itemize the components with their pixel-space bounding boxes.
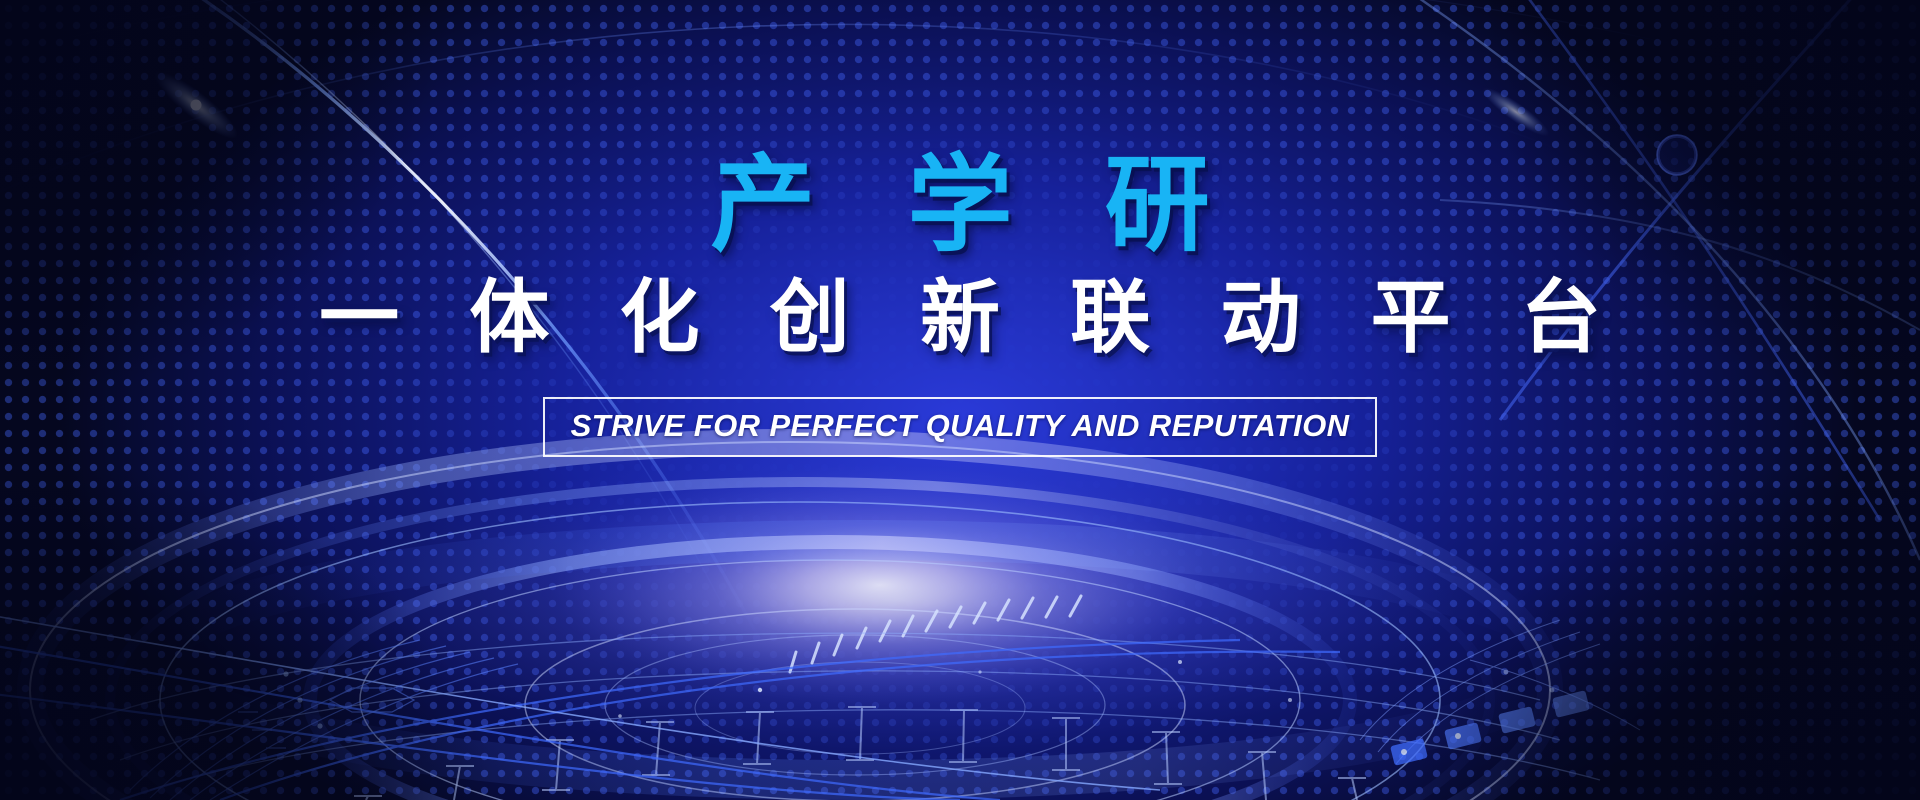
circuit-trace-icon <box>130 640 518 800</box>
circle-node-icon <box>1500 0 1920 520</box>
chip-node-icon <box>1390 690 1590 766</box>
slogan-box: STRIVE FOR PERFECT QUALITY AND REPUTATIO… <box>543 397 1378 457</box>
corner-vignette <box>0 0 1920 800</box>
slogan-text: STRIVE FOR PERFECT QUALITY AND REPUTATIO… <box>571 408 1350 444</box>
globe-meridian-bars <box>354 707 1366 800</box>
circuit-trace-right-icon <box>1360 620 1640 764</box>
glowing-arc-icon <box>0 0 760 640</box>
globe-latitude-lines <box>90 633 1600 790</box>
light-streak-icon <box>0 640 1340 800</box>
sparkle-icon <box>618 660 1292 718</box>
dot-matrix-texture <box>0 0 1920 800</box>
radial-tick-marks-icon <box>790 596 1081 672</box>
hero-banner: 产 学 研 一 体 化 创 新 联 动 平 台 STRIVE FOR PERFE… <box>0 0 1920 800</box>
tech-globe-icon <box>30 442 1560 800</box>
banner-content: 产 学 研 一 体 化 创 新 联 动 平 台 STRIVE FOR PERFE… <box>0 0 1920 800</box>
page-title: 产 学 研 <box>679 152 1241 259</box>
background-graphics <box>0 0 1920 800</box>
page-subtitle: 一 体 化 创 新 联 动 平 台 <box>295 277 1625 359</box>
